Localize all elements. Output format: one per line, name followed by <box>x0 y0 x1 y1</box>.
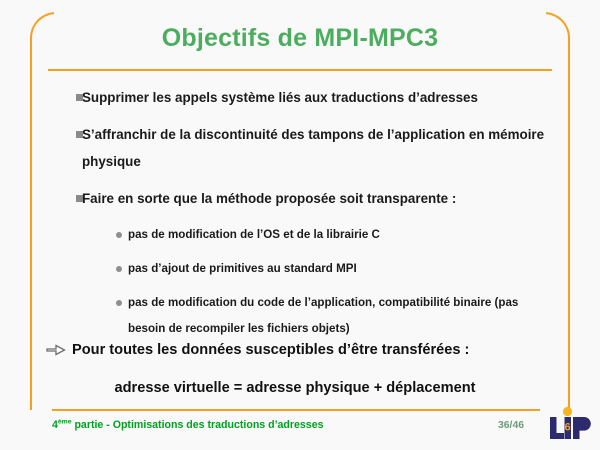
conclusion-line-1: Pour toutes les données susceptibles d’ê… <box>46 338 560 362</box>
slide-content: Supprimer les appels système liés aux tr… <box>46 84 556 350</box>
square-bullet-icon <box>76 94 83 101</box>
page-title: Objectifs de MPI-MPC3 <box>40 22 560 54</box>
sub-bullet-text: pas d’ajout de primitives au standard MP… <box>128 262 357 275</box>
footer-ordinal-suffix: ème <box>58 418 72 425</box>
dot-bullet-icon <box>116 300 122 306</box>
logo-digit: 6 <box>565 422 571 434</box>
square-bullet-icon <box>76 195 83 202</box>
title-underline-divider <box>48 69 552 71</box>
dot-bullet-icon <box>116 266 122 272</box>
bullet-text: Faire en sorte que la méthode proposée s… <box>82 191 456 206</box>
conclusion-text-1: Pour toutes les données susceptibles d’ê… <box>72 342 469 358</box>
footer-divider <box>52 409 540 411</box>
list-item: pas de modification de l’OS et de la lib… <box>46 222 556 248</box>
bullet-text: Supprimer les appels système liés aux tr… <box>82 90 478 105</box>
conclusion-block: Pour toutes les données susceptibles d’ê… <box>46 338 560 400</box>
sub-bullet-group: pas de modification de l’OS et de la lib… <box>46 222 556 342</box>
hollow-arrow-right-icon <box>46 343 66 357</box>
title-area: Objectifs de MPI-MPC3 <box>40 22 560 54</box>
sub-bullet-text: pas de modification de l’OS et de la lib… <box>128 228 380 241</box>
page-number: 36/46 <box>498 420 524 431</box>
list-item: pas d’ajout de primitives au standard MP… <box>46 256 556 282</box>
sub-bullet-text: pas de modification du code de l’applica… <box>128 296 518 335</box>
square-bullet-icon <box>76 131 83 138</box>
list-item: Faire en sorte que la méthode proposée s… <box>46 185 556 212</box>
footer-caption: 4ème partie - Optimisations des traducti… <box>52 419 323 431</box>
dot-bullet-icon <box>116 232 122 238</box>
list-item: pas de modification du code de l’applica… <box>46 290 556 342</box>
list-item: Supprimer les appels système liés aux tr… <box>46 84 556 111</box>
logo-dot-icon <box>563 407 572 416</box>
bullet-text: S’affranchir de la discontinuité des tam… <box>82 127 544 169</box>
lip6-logo: 6 <box>548 404 592 446</box>
conclusion-line-2: adresse virtuelle = adresse physique + d… <box>46 376 560 400</box>
footer-part-label: partie - Optimisations des traductions d… <box>72 419 324 431</box>
frame-top-gap <box>54 6 546 20</box>
list-item: S’affranchir de la discontinuité des tam… <box>46 121 556 175</box>
